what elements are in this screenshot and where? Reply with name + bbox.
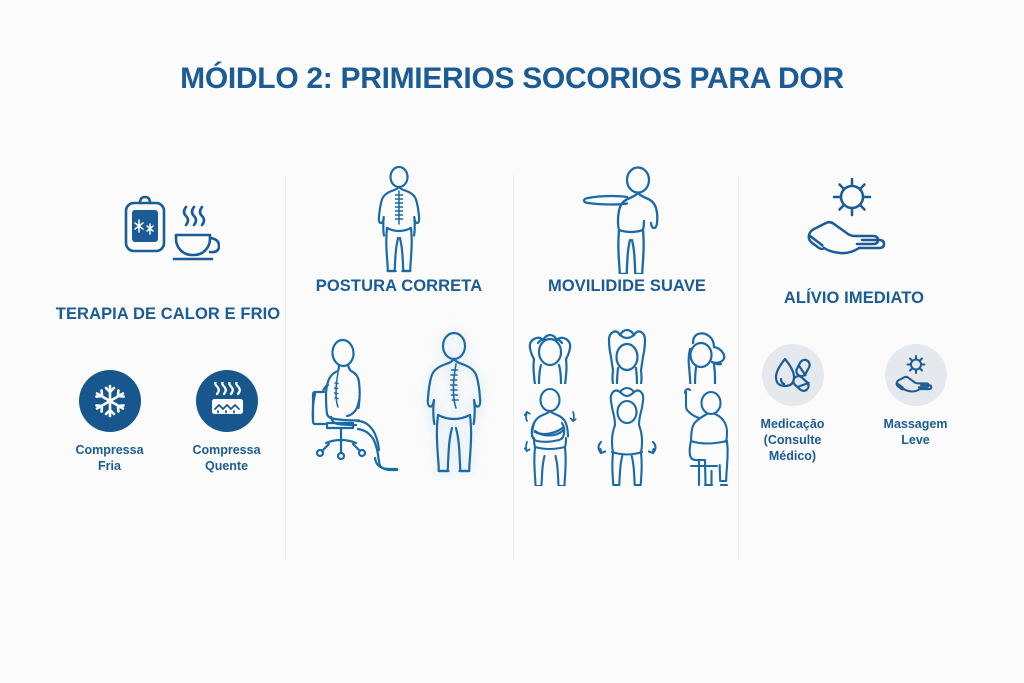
column-title-terapia: TERAPIA DE CALOR E FRIO [54, 304, 282, 326]
neck-stretch-hands-behind-head-figure [519, 324, 581, 384]
page-title: MÓIDLO 2: PRIMIERIOS SOCORIOS PARA DOR [0, 62, 1024, 96]
badge-compressa-quente[interactable]: Compressa Quente [179, 370, 274, 474]
stretch-figure-grid [513, 324, 741, 486]
seated-posture-figure [301, 337, 401, 475]
overhead-reach-twist-figure [589, 386, 665, 486]
column-title-movilidide: MOVILIDIDE SUAVE [513, 276, 741, 298]
column-terapia-calor-frio: TERAPIA DE CALOR E FRIO [54, 170, 282, 570]
neck-stretch-arms-overhead-figure [596, 324, 658, 384]
droplet-and-pills-icon [771, 355, 815, 395]
badge-row-terapia: Compressa Fria [54, 370, 282, 474]
medicacao-circle [762, 344, 824, 406]
badge-compressa-fria[interactable]: Compressa Fria [62, 370, 157, 474]
infographic-canvas: MÓIDLO 2: PRIMIERIOS SOCORIOS PARA DOR [0, 0, 1024, 683]
column-title-alivio: ALÍVIO IMEDIATO [740, 288, 968, 310]
figures-postura [285, 332, 513, 475]
hand-with-sparkle-icon [893, 355, 939, 395]
heat-pad-icon [207, 382, 247, 420]
ice-pack-and-hot-cup-icon [54, 170, 282, 282]
massagem-leve-circle [885, 344, 947, 406]
snowflake-icon [92, 383, 128, 419]
arm-raised-person-icon [513, 170, 741, 270]
badge-label-massagem-leve: Massagem Leve [884, 416, 948, 448]
standing-spine-highlight-figure [411, 332, 497, 475]
badge-label-compressa-quente: Compressa Quente [192, 442, 260, 474]
badge-label-compressa-fria: Compressa Fria [75, 442, 143, 474]
seated-stool-stretch-figure [669, 386, 739, 486]
column-title-postura: POSTURA CORRETA [285, 276, 513, 298]
column-alivio-imediato: ALÍVIO IMEDIATO Medicaç [740, 170, 968, 570]
badge-massagem-leve[interactable]: Massagem Leve [863, 344, 968, 464]
side-neck-stretch-figure [673, 324, 735, 384]
badge-label-medicacao: Medicaçāo (Consulte Médico) [740, 416, 845, 464]
column-movilidide-suave: MOVILIDIDE SUAVE [513, 170, 741, 570]
compressa-fria-circle [79, 370, 141, 432]
badge-row-alivio: Medicaçāo (Consulte Médico) [740, 344, 968, 464]
hand-with-sparkle-icon [740, 170, 968, 270]
column-postura-correta: POSTURA CORRETA [285, 170, 513, 570]
standing-person-spine-icon [285, 170, 513, 270]
compressa-quente-circle [196, 370, 258, 432]
badge-medicacao[interactable]: Medicaçāo (Consulte Médico) [740, 344, 845, 464]
shoulder-roll-arms-crossed-figure [516, 386, 584, 486]
